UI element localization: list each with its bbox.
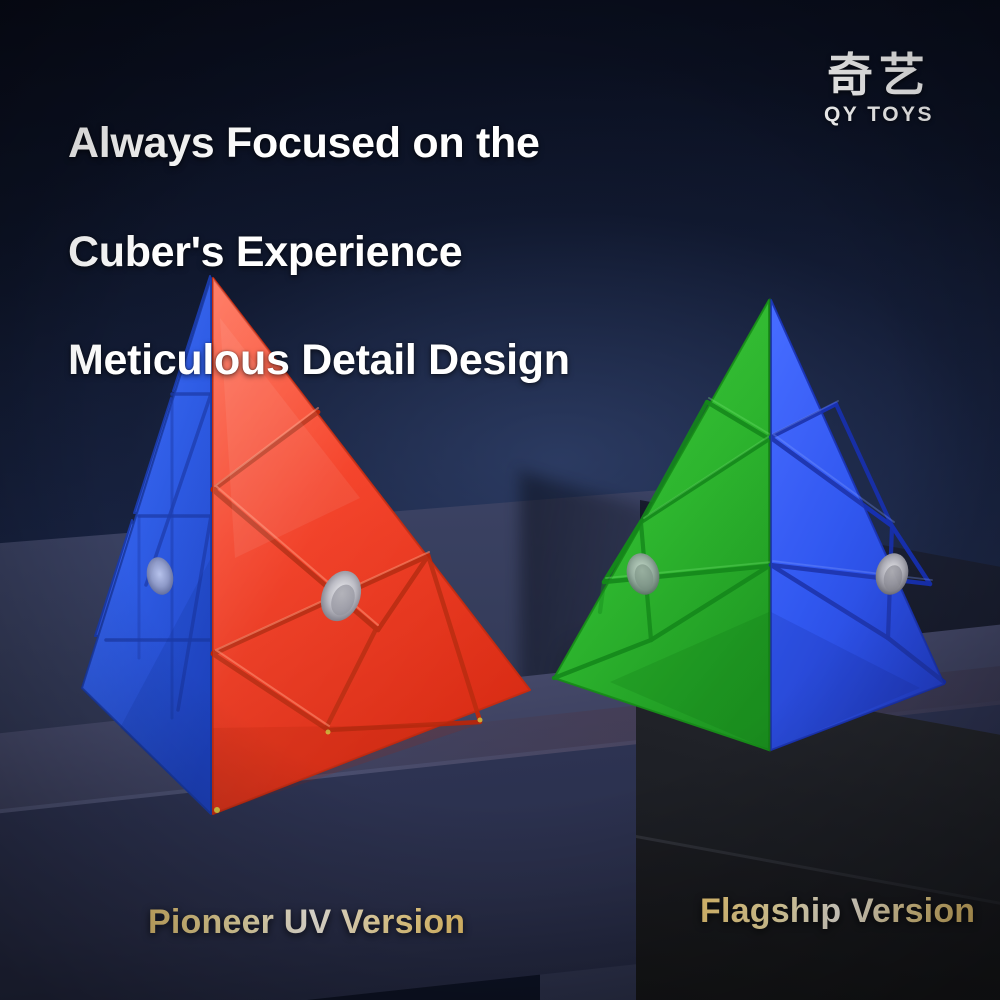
caption-pioneer-uv: Pioneer UV Version [148,903,465,942]
brand-logo-english: QY TOYS [804,103,954,127]
headline-line-1: Always Focused on the [68,116,708,170]
headline: Always Focused on the Cuber's Experience… [68,62,708,441]
pyraminx-right-face-blue [771,300,944,750]
brand-logo: 奇艺 QY TOYS [804,52,954,127]
headline-line-2: Cuber's Experience [68,225,708,279]
promo-stage: Always Focused on the Cuber's Experience… [0,0,1000,1000]
headline-line-3: Meticulous Detail Design [68,333,708,387]
caption-flagship: Flagship Version [700,892,975,931]
brand-logo-chinese: 奇艺 [804,52,954,98]
